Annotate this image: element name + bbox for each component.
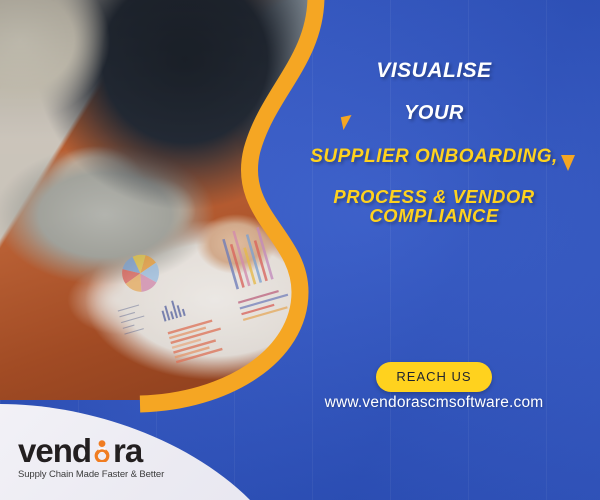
website-url[interactable]: www.vendorascmsoftware.com — [268, 394, 600, 412]
logo-text-part2: ra — [113, 434, 142, 467]
headline-line-1: VISUALISE — [268, 60, 600, 81]
logo-person-o-icon — [92, 434, 112, 458]
cta-area: REACH US — [268, 362, 600, 392]
headline-line-2: YOUR — [268, 103, 600, 123]
promo-banner: VISUALISE YOUR SUPPLIER ONBOARDING, PROC… — [0, 0, 600, 500]
logo-text-part1: vend — [18, 434, 91, 467]
logo-wordmark: vend ra — [18, 434, 198, 467]
vendora-logo: vend ra Supply Chain Made Faster & Bette… — [18, 434, 198, 480]
headline-block: VISUALISE YOUR SUPPLIER ONBOARDING, PROC… — [268, 60, 600, 225]
headline-line-4: PROCESS & VENDOR COMPLIANCE — [268, 188, 600, 225]
logo-tagline: Supply Chain Made Faster & Better — [18, 469, 198, 480]
reach-us-button[interactable]: REACH US — [376, 362, 491, 392]
headline-line-3: SUPPLIER ONBOARDING, — [268, 147, 600, 166]
